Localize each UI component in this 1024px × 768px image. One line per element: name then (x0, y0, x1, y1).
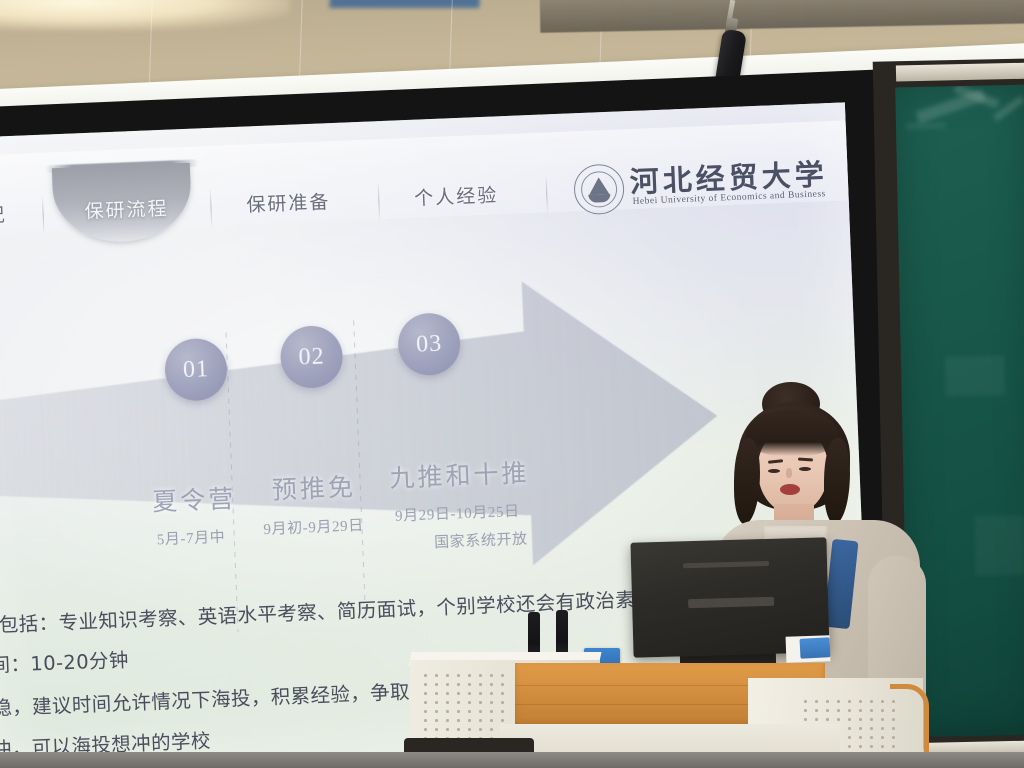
step-title-03: 九推和十推 (389, 453, 530, 495)
ceiling-light (0, 0, 290, 30)
body-line-2: 时间：10-20分钟 (0, 644, 129, 679)
tab-baoyan-liucheng[interactable]: 保研流程 (84, 194, 169, 224)
university-seal-icon (573, 163, 625, 215)
ceiling-blue-panel (329, 0, 480, 8)
lecture-hall-photo: VISION 情况 保研流程 保研准备 个人经验 (0, 0, 1024, 768)
right-arrow-icon (0, 265, 733, 597)
body-line-3: ：稳，建议时间允许情况下海投，积累经验，争取拿 (0, 675, 430, 722)
step-date-02: 9月初-9月29日 (263, 514, 364, 539)
tab-separator (210, 188, 213, 228)
step-date-01: 5月-7月中 (156, 526, 225, 550)
step-title-02: 预推免 (271, 467, 356, 506)
step-note-03: 国家系统开放 (434, 527, 528, 552)
step-title-01: 夏令营 (151, 479, 236, 518)
university-logo: 河北经贸大学 Hebei University of Economics and… (573, 154, 813, 220)
tab-baoyan-qingkuang[interactable]: 情况 (0, 200, 7, 229)
blackboard-top-trim (896, 63, 1024, 82)
tab-separator (42, 195, 45, 235)
tab-geren-jingyan[interactable]: 个人经验 (414, 180, 499, 210)
tab-separator (378, 181, 381, 221)
ceiling-rail (540, 0, 1024, 33)
floor (0, 752, 1024, 768)
tab-baoyan-zhunbei[interactable]: 保研准备 (246, 187, 331, 217)
blue-box-item (799, 637, 830, 659)
slide-tab-band: 情况 保研流程 保研准备 个人经验 河北经贸大学 Hebei Universit… (0, 120, 849, 236)
tab-separator (545, 174, 548, 214)
